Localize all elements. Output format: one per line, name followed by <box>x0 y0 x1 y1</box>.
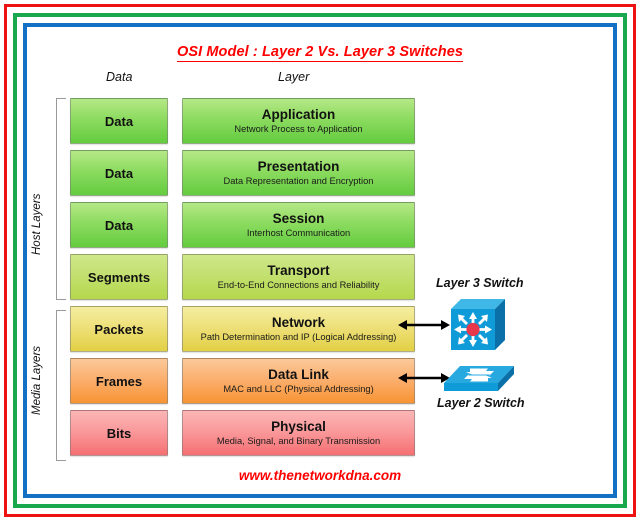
osi-model-diagram: OSI Model : Layer 2 Vs. Layer 3 Switches… <box>0 0 640 521</box>
layer-cell-presentation: Presentation Data Representation and Enc… <box>182 150 415 196</box>
layer-description: Interhost Communication <box>247 228 350 239</box>
diagram-title: OSI Model : Layer 2 Vs. Layer 3 Switches <box>0 44 640 60</box>
pdu-cell-presentation: Data <box>70 150 168 196</box>
layer-name: Transport <box>267 263 329 279</box>
layer-name: Data Link <box>268 367 329 383</box>
pdu-cell-physical: Bits <box>70 410 168 456</box>
layer-row-session: Data Session Interhost Communication <box>70 202 415 248</box>
layer-name: Presentation <box>258 159 340 175</box>
layer-cell-application: Application Network Process to Applicati… <box>182 98 415 144</box>
layer-description: MAC and LLC (Physical Addressing) <box>223 384 373 395</box>
layer-cell-session: Session Interhost Communication <box>182 202 415 248</box>
column-heading-layer: Layer <box>278 70 309 84</box>
layer-name: Network <box>272 315 325 331</box>
pdu-label: Packets <box>94 322 143 337</box>
layer-row-application: Data Application Network Process to Appl… <box>70 98 415 144</box>
layer-row-network: Packets Network Path Determination and I… <box>70 306 415 352</box>
media-layers-label: Media Layers <box>31 330 43 430</box>
layer-cell-network: Network Path Determination and IP (Logic… <box>182 306 415 352</box>
host-layers-label: Host Layers <box>31 180 43 268</box>
layer-row-presentation: Data Presentation Data Representation an… <box>70 150 415 196</box>
layer-description: Data Representation and Encryption <box>224 176 374 187</box>
osi-layer-stack: Data Application Network Process to Appl… <box>70 98 415 456</box>
pdu-label: Segments <box>88 270 150 285</box>
layer-description: Media, Signal, and Binary Transmission <box>217 436 380 447</box>
pdu-cell-session: Data <box>70 202 168 248</box>
layer-cell-data-link: Data Link MAC and LLC (Physical Addressi… <box>182 358 415 404</box>
pdu-cell-application: Data <box>70 98 168 144</box>
host-layers-bracket <box>56 98 66 300</box>
media-layers-bracket <box>56 310 66 461</box>
pdu-label: Data <box>105 218 133 233</box>
layer-description: Network Process to Application <box>234 124 362 135</box>
diagram-title-text: OSI Model : Layer 2 Vs. Layer 3 Switches <box>177 44 463 62</box>
layer3-switch-label: Layer 3 Switch <box>436 276 524 290</box>
pdu-label: Frames <box>96 374 142 389</box>
pdu-label: Data <box>105 166 133 181</box>
pdu-cell-transport: Segments <box>70 254 168 300</box>
column-heading-data: Data <box>106 70 132 84</box>
layer-cell-physical: Physical Media, Signal, and Binary Trans… <box>182 410 415 456</box>
layer-row-transport: Segments Transport End-to-End Connection… <box>70 254 415 300</box>
layer2-switch-label: Layer 2 Switch <box>437 396 525 410</box>
layer-name: Application <box>262 107 336 123</box>
layer-description: Path Determination and IP (Logical Addre… <box>201 332 397 343</box>
layer-row-physical: Bits Physical Media, Signal, and Binary … <box>70 410 415 456</box>
layer-description: End-to-End Connections and Reliability <box>218 280 380 291</box>
layer-row-data-link: Frames Data Link MAC and LLC (Physical A… <box>70 358 415 404</box>
layer3-switch-icon <box>447 296 509 359</box>
layer-name: Physical <box>271 419 326 435</box>
pdu-cell-data-link: Frames <box>70 358 168 404</box>
pdu-cell-network: Packets <box>70 306 168 352</box>
footer-url: www.thenetworkdna.com <box>0 468 640 483</box>
pdu-label: Data <box>105 114 133 129</box>
layer-cell-transport: Transport End-to-End Connections and Rel… <box>182 254 415 300</box>
connector-arrow-network-to-layer3-switch <box>398 318 450 332</box>
layer-name: Session <box>273 211 325 227</box>
pdu-label: Bits <box>107 426 132 441</box>
